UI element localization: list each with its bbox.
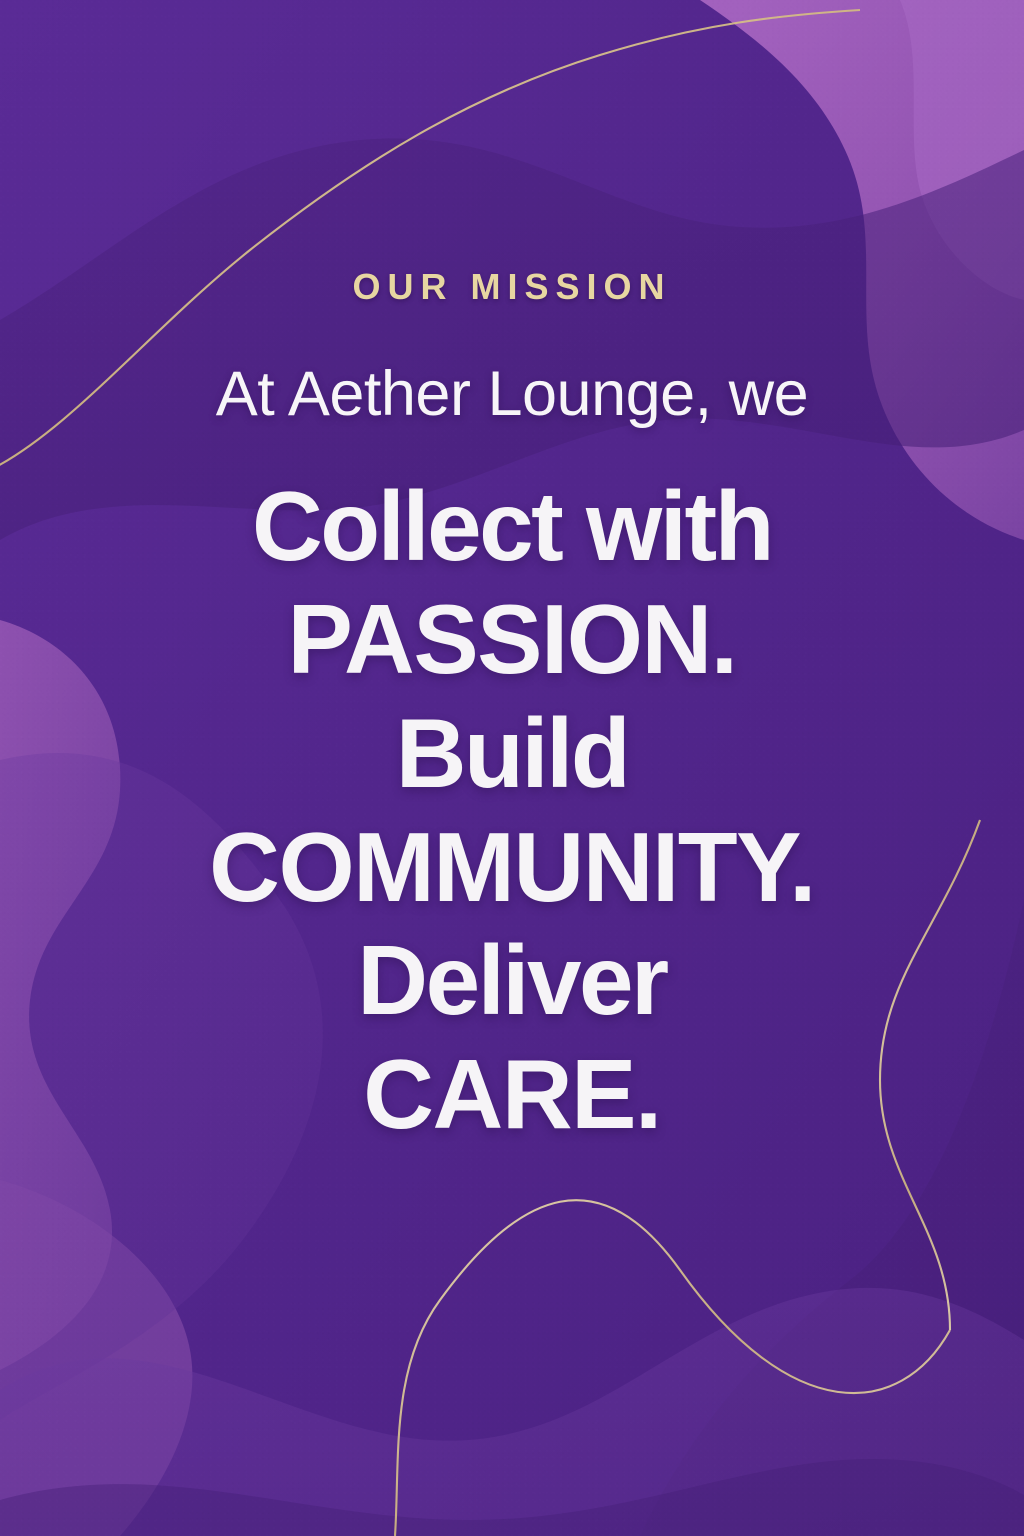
statement-line-6: CARE. [363,1038,660,1152]
eyebrow-label: OUR MISSION [352,268,671,307]
statement-line-1: Collect with [252,470,772,584]
mission-poster: OUR MISSION At Aether Lounge, we Collect… [0,0,1024,1536]
statement-line-3: Build [396,697,628,811]
mission-statement: Collect with PASSION. Build COMMUNITY. D… [209,470,815,1152]
lede-text: At Aether Lounge, we [216,361,808,428]
statement-line-2: PASSION. [287,583,736,697]
poster-content: OUR MISSION At Aether Lounge, we Collect… [0,268,1024,1152]
statement-line-4: COMMUNITY. [209,811,815,925]
statement-line-5: Deliver [357,924,666,1038]
